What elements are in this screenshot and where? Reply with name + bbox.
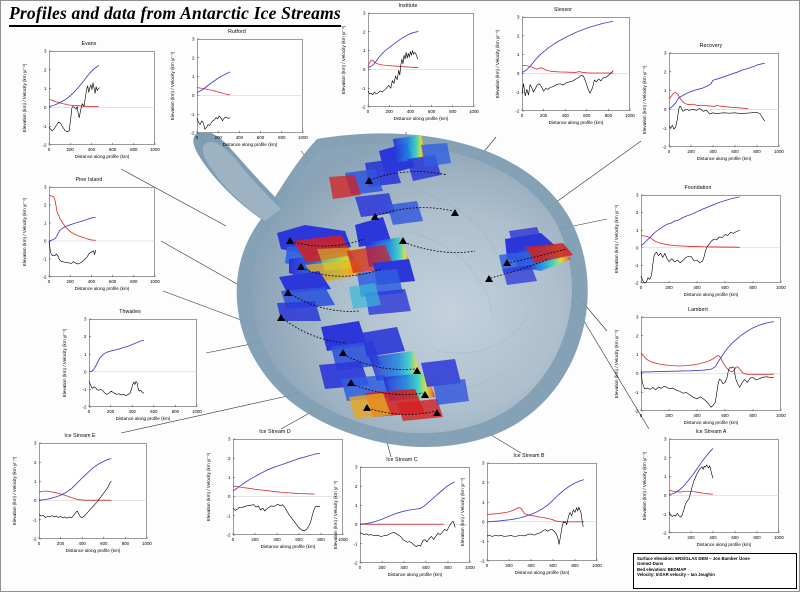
svg-text:1000: 1000 — [150, 147, 160, 152]
series-velocity — [669, 92, 748, 108]
chart-canvas: 02004006008001000-2-10123 — [607, 185, 789, 307]
x-axis-label: Distance along profile (km) — [89, 416, 197, 421]
svg-text:1000: 1000 — [774, 149, 784, 154]
svg-text:1: 1 — [228, 475, 231, 480]
svg-text:600: 600 — [731, 535, 739, 540]
svg-text:200: 200 — [67, 147, 75, 152]
series-surface-elevation — [39, 459, 111, 500]
svg-text:400: 400 — [129, 409, 137, 414]
svg-text:400: 400 — [236, 135, 244, 140]
svg-text:200: 200 — [665, 413, 673, 418]
chart-pine-island: Pine Island02004006008001000-2-10123Elev… — [15, 177, 163, 301]
x-axis-label: Distance along profile (km) — [487, 570, 597, 575]
series-velocity — [197, 88, 230, 95]
svg-text:800: 800 — [130, 147, 138, 152]
svg-text:2: 2 — [482, 480, 485, 485]
chart-canvas: 02004006008001000-2-10123 — [488, 7, 638, 135]
svg-text:1000: 1000 — [142, 541, 152, 546]
series-bed-elevation — [669, 465, 713, 517]
svg-text:3: 3 — [517, 15, 520, 20]
svg-text:-1: -1 — [42, 124, 46, 129]
svg-text:1000: 1000 — [625, 113, 635, 118]
y-axis-label: Elevation (km) / Velocity (km yr⁻¹) — [642, 439, 648, 533]
svg-text:600: 600 — [721, 285, 729, 290]
series-velocity — [522, 66, 613, 74]
chart-recovery: Recovery02004006008001000-2-10123Elevati… — [635, 43, 787, 171]
series-velocity — [368, 60, 418, 68]
svg-text:800: 800 — [571, 563, 579, 568]
svg-text:400: 400 — [562, 113, 570, 118]
svg-text:0: 0 — [664, 493, 667, 498]
svg-text:2: 2 — [636, 210, 639, 215]
svg-text:800: 800 — [444, 565, 452, 570]
x-axis-label: Distance along profile (km) — [49, 154, 155, 159]
svg-text:800: 800 — [753, 535, 761, 540]
svg-text:-2: -2 — [42, 143, 46, 148]
chart-ice-stream-a: Ice Stream A02004006008001000-2-10123Ele… — [635, 429, 787, 557]
credits-box: Surface elevation: ERS/GLAS DEM – Jon Ba… — [633, 553, 797, 589]
chart-evans: Evans02004006008001000-2-10123Elevation … — [15, 41, 163, 169]
svg-text:400: 400 — [407, 109, 415, 114]
svg-text:-2: -2 — [190, 131, 194, 136]
y-axis-label: Elevation (km) / Velocity (km yr⁻¹) — [341, 13, 347, 107]
chart-foundation: Foundation02004006008001000-2-10123Eleva… — [607, 185, 789, 307]
svg-text:200: 200 — [665, 285, 673, 290]
svg-text:200: 200 — [687, 535, 695, 540]
svg-text:800: 800 — [749, 285, 757, 290]
svg-text:0: 0 — [84, 369, 87, 374]
svg-text:800: 800 — [122, 541, 130, 546]
svg-text:-1: -1 — [82, 387, 86, 392]
x-axis-label: Distance along profile (km) — [641, 292, 781, 297]
svg-text:800: 800 — [172, 409, 180, 414]
svg-text:200: 200 — [57, 541, 65, 546]
y-axis-label: Elevation (km) / Velocity (km yr⁻¹) — [170, 39, 176, 133]
svg-text:2: 2 — [228, 456, 231, 461]
series-surface-elevation — [49, 217, 96, 240]
series-surface-elevation — [669, 448, 713, 494]
svg-text:1000: 1000 — [592, 563, 602, 568]
svg-text:1000: 1000 — [469, 109, 479, 114]
series-bed-elevation — [522, 71, 613, 96]
svg-text:400: 400 — [88, 279, 96, 284]
svg-text:0: 0 — [482, 519, 485, 524]
series-velocity — [233, 486, 314, 494]
y-axis-label: Elevation (km) / Velocity (km yr⁻¹) — [333, 467, 339, 563]
svg-text:400: 400 — [693, 285, 701, 290]
svg-text:0: 0 — [355, 522, 358, 527]
poster-root: Profiles and data from Antarctic Ice Str… — [0, 0, 800, 592]
svg-text:600: 600 — [295, 537, 303, 542]
svg-text:600: 600 — [109, 147, 117, 152]
svg-text:-1: -1 — [662, 512, 666, 517]
svg-text:200: 200 — [107, 409, 115, 414]
chart-canvas: 02004006008001000-2-10123 — [15, 41, 163, 169]
svg-text:-1: -1 — [515, 90, 519, 95]
chart-canvas: 02004006008001000-2-10123 — [453, 453, 605, 585]
svg-text:-1: -1 — [226, 513, 230, 518]
svg-text:2: 2 — [517, 33, 520, 38]
series-bed-elevation — [89, 381, 144, 395]
svg-text:200: 200 — [687, 149, 695, 154]
svg-text:0: 0 — [48, 147, 51, 152]
svg-text:3: 3 — [84, 317, 87, 322]
svg-text:2: 2 — [44, 203, 47, 208]
svg-text:2: 2 — [355, 484, 358, 489]
svg-text:1: 1 — [636, 228, 639, 233]
series-surface-elevation — [368, 31, 418, 67]
y-axis-label: Elevation (km) / Velocity (km yr⁻¹) — [12, 443, 18, 539]
y-axis-label: Elevation (km) / Velocity (km yr⁻¹) — [22, 187, 28, 277]
svg-text:600: 600 — [109, 279, 117, 284]
chart-canvas: 02004006008001000-2-10123 — [5, 433, 155, 563]
y-axis-label: Elevation (km) / Velocity (km yr⁻¹) — [495, 17, 501, 111]
svg-text:0: 0 — [363, 67, 366, 72]
chart-canvas: 02004006008001000-2-10123 — [15, 177, 163, 301]
x-axis-label: Distance along profile (km) — [368, 116, 474, 121]
svg-text:2: 2 — [192, 55, 195, 60]
svg-text:-2: -2 — [82, 405, 86, 410]
svg-text:3: 3 — [363, 11, 366, 16]
svg-text:-2: -2 — [662, 531, 666, 536]
svg-text:-2: -2 — [226, 533, 230, 538]
svg-text:3: 3 — [44, 185, 47, 190]
svg-text:0: 0 — [48, 279, 51, 284]
chart-ice-stream-e: Ice Stream E02004006008001000-2-10123Ele… — [5, 433, 155, 563]
svg-text:3: 3 — [44, 49, 47, 54]
svg-text:-1: -1 — [662, 126, 666, 131]
svg-text:400: 400 — [709, 535, 717, 540]
svg-text:0: 0 — [521, 113, 524, 118]
svg-text:3: 3 — [636, 315, 639, 320]
credit-velocity: Velocity: InSAR velocity – Ian Joughin — [637, 572, 793, 577]
svg-text:0: 0 — [44, 239, 47, 244]
y-axis-label: Elevation (km) / Velocity (km yr⁻¹) — [614, 195, 620, 283]
chart-canvas: 02004006008001000-2-10123 — [334, 3, 482, 131]
svg-text:600: 600 — [257, 135, 265, 140]
svg-text:1: 1 — [34, 479, 37, 484]
svg-text:1: 1 — [44, 221, 47, 226]
chart-canvas: 02004006008001000-2-10123 — [163, 29, 311, 157]
series-velocity — [641, 236, 740, 247]
series-bed-elevation — [360, 521, 455, 547]
svg-text:0: 0 — [196, 135, 199, 140]
svg-text:0: 0 — [668, 149, 671, 154]
svg-text:200: 200 — [67, 279, 75, 284]
svg-text:3: 3 — [34, 441, 37, 446]
y-axis-label: Elevation (km) / Velocity (km yr⁻¹) — [460, 463, 466, 561]
svg-text:400: 400 — [273, 537, 281, 542]
svg-text:-1: -1 — [361, 86, 365, 91]
svg-text:800: 800 — [317, 537, 325, 542]
series-surface-elevation — [360, 482, 455, 524]
svg-text:200: 200 — [378, 565, 386, 570]
series-velocity — [49, 100, 99, 107]
svg-text:400: 400 — [693, 413, 701, 418]
antarctica-map[interactable] — [169, 121, 609, 451]
svg-text:1000: 1000 — [150, 279, 160, 284]
svg-text:1000: 1000 — [776, 285, 786, 290]
y-axis-label: Elevation (km) / Velocity (km yr⁻¹) — [206, 439, 212, 535]
svg-text:600: 600 — [583, 113, 591, 118]
svg-text:3: 3 — [664, 437, 667, 442]
svg-text:1: 1 — [363, 48, 366, 53]
svg-text:1: 1 — [664, 88, 667, 93]
svg-text:-1: -1 — [32, 517, 36, 522]
svg-text:400: 400 — [527, 563, 535, 568]
svg-text:3: 3 — [192, 37, 195, 42]
svg-text:2: 2 — [664, 455, 667, 460]
svg-text:600: 600 — [428, 109, 436, 114]
svg-text:1: 1 — [636, 352, 639, 357]
page-title: Profiles and data from Antarctic Ice Str… — [9, 3, 341, 27]
svg-text:0: 0 — [44, 105, 47, 110]
y-axis-label: Elevation (km) / Velocity (km yr⁻¹) — [22, 51, 28, 145]
series-surface-elevation — [522, 21, 613, 72]
svg-text:1000: 1000 — [192, 409, 202, 414]
svg-text:3: 3 — [636, 193, 639, 198]
svg-text:-2: -2 — [42, 275, 46, 280]
chart-canvas: 02004006008001000-2-10123 — [635, 43, 787, 171]
svg-text:400: 400 — [79, 541, 87, 546]
svg-text:1: 1 — [355, 503, 358, 508]
svg-text:0: 0 — [636, 245, 639, 250]
svg-text:2: 2 — [84, 334, 87, 339]
svg-text:1: 1 — [517, 52, 520, 57]
svg-text:-1: -1 — [480, 539, 484, 544]
svg-text:400: 400 — [709, 149, 717, 154]
y-axis-label: Elevation (km) / Velocity (km yr⁻¹) — [642, 53, 648, 147]
svg-text:-2: -2 — [480, 559, 484, 564]
svg-text:-1: -1 — [634, 263, 638, 268]
x-axis-label: Distance along profile (km) — [49, 286, 155, 291]
chart-canvas: 02004006008001000-2-10123 — [55, 309, 205, 431]
series-surface-elevation — [89, 340, 144, 372]
svg-text:0: 0 — [232, 537, 235, 542]
svg-text:-1: -1 — [190, 112, 194, 117]
chart-ice-stream-b: Ice Stream B02004006008001000-2-10123Ele… — [453, 453, 605, 585]
svg-text:200: 200 — [540, 113, 548, 118]
svg-text:800: 800 — [605, 113, 613, 118]
svg-text:400: 400 — [400, 565, 408, 570]
series-bed-elevation — [39, 481, 111, 518]
y-axis-label: Elevation (km) / Velocity (km yr⁻¹) — [62, 319, 68, 407]
svg-text:800: 800 — [753, 149, 761, 154]
series-bed-elevation — [641, 230, 740, 283]
svg-text:800: 800 — [449, 109, 457, 114]
series-surface-elevation — [197, 72, 230, 93]
svg-text:200: 200 — [251, 537, 259, 542]
svg-text:0: 0 — [88, 409, 91, 414]
chart-rutford: Rutford02004006008001000-2-10123Elevatio… — [163, 29, 311, 157]
svg-text:-2: -2 — [634, 281, 638, 286]
svg-text:0: 0 — [486, 563, 489, 568]
svg-text:1000: 1000 — [298, 135, 308, 140]
svg-text:-2: -2 — [361, 105, 365, 110]
x-axis-label: Distance along profile (km) — [522, 120, 630, 125]
svg-text:1: 1 — [84, 352, 87, 357]
svg-text:0: 0 — [367, 109, 370, 114]
svg-text:1: 1 — [482, 500, 485, 505]
x-axis-label: Distance along profile (km) — [641, 420, 781, 425]
svg-text:-2: -2 — [32, 537, 36, 542]
svg-text:-2: -2 — [353, 561, 357, 566]
svg-text:0: 0 — [517, 71, 520, 76]
antarctica-map-svg — [169, 121, 609, 451]
series-surface-elevation — [487, 480, 584, 522]
svg-text:0: 0 — [359, 565, 362, 570]
svg-text:1: 1 — [664, 474, 667, 479]
chart-institute: Institute02004006008001000-2-10123Elevat… — [334, 3, 482, 131]
svg-text:0: 0 — [664, 107, 667, 112]
svg-text:800: 800 — [749, 413, 757, 418]
svg-text:400: 400 — [88, 147, 96, 152]
svg-text:-2: -2 — [662, 145, 666, 150]
svg-text:600: 600 — [422, 565, 430, 570]
chart-canvas: 02004006008001000-2-10123 — [607, 307, 789, 435]
series-bed-elevation — [641, 367, 774, 407]
x-axis-label: Distance along profile (km) — [669, 542, 779, 547]
svg-text:2: 2 — [34, 460, 37, 465]
svg-text:3: 3 — [355, 465, 358, 470]
svg-text:-1: -1 — [634, 390, 638, 395]
svg-text:200: 200 — [505, 563, 513, 568]
svg-text:600: 600 — [100, 541, 108, 546]
series-bed-elevation — [49, 241, 96, 264]
svg-text:3: 3 — [482, 461, 485, 466]
chart-slessor: Slessor02004006008001000-2-10123Elevatio… — [488, 7, 638, 135]
svg-text:1: 1 — [192, 74, 195, 79]
svg-text:0: 0 — [668, 535, 671, 540]
svg-text:-1: -1 — [353, 541, 357, 546]
svg-text:600: 600 — [549, 563, 557, 568]
svg-text:600: 600 — [721, 413, 729, 418]
svg-text:0: 0 — [640, 285, 643, 290]
chart-lambert: Lambert02004006008001000-2-10123Elevatio… — [607, 307, 789, 435]
svg-text:1000: 1000 — [774, 535, 784, 540]
series-bed-elevation — [233, 504, 320, 531]
svg-text:-2: -2 — [634, 409, 638, 414]
chart-thwaites: Thwaites02004006008001000-2-10123Elevati… — [55, 309, 205, 431]
svg-text:-1: -1 — [42, 257, 46, 262]
svg-text:0: 0 — [636, 371, 639, 376]
series-bed-elevation — [197, 116, 230, 129]
svg-text:0: 0 — [640, 413, 643, 418]
series-surface-elevation — [233, 453, 320, 490]
x-axis-label: Distance along profile (km) — [39, 548, 147, 553]
svg-text:600: 600 — [150, 409, 158, 414]
series-bed-elevation — [368, 51, 418, 95]
series-surface-elevation — [641, 197, 740, 246]
svg-text:0: 0 — [34, 498, 37, 503]
x-axis-label: Distance along profile (km) — [669, 156, 779, 161]
series-velocity — [49, 196, 96, 241]
svg-text:3: 3 — [664, 51, 667, 56]
svg-text:3: 3 — [228, 437, 231, 442]
y-axis-label: Elevation (km) / Velocity (km yr⁻¹) — [614, 317, 620, 411]
svg-text:200: 200 — [215, 135, 223, 140]
svg-text:2: 2 — [636, 333, 639, 338]
svg-text:600: 600 — [731, 149, 739, 154]
svg-text:2: 2 — [664, 69, 667, 74]
svg-text:1000: 1000 — [776, 413, 786, 418]
svg-text:1: 1 — [44, 86, 47, 91]
svg-text:0: 0 — [192, 93, 195, 98]
svg-text:2: 2 — [363, 29, 366, 34]
chart-canvas: 02004006008001000-2-10123 — [635, 429, 787, 557]
x-axis-label: Distance along profile (km) — [197, 142, 303, 147]
svg-text:-2: -2 — [515, 109, 519, 114]
svg-text:800: 800 — [130, 279, 138, 284]
svg-text:0: 0 — [38, 541, 41, 546]
svg-text:800: 800 — [278, 135, 286, 140]
svg-text:200: 200 — [386, 109, 394, 114]
svg-text:2: 2 — [44, 67, 47, 72]
svg-text:0: 0 — [228, 494, 231, 499]
